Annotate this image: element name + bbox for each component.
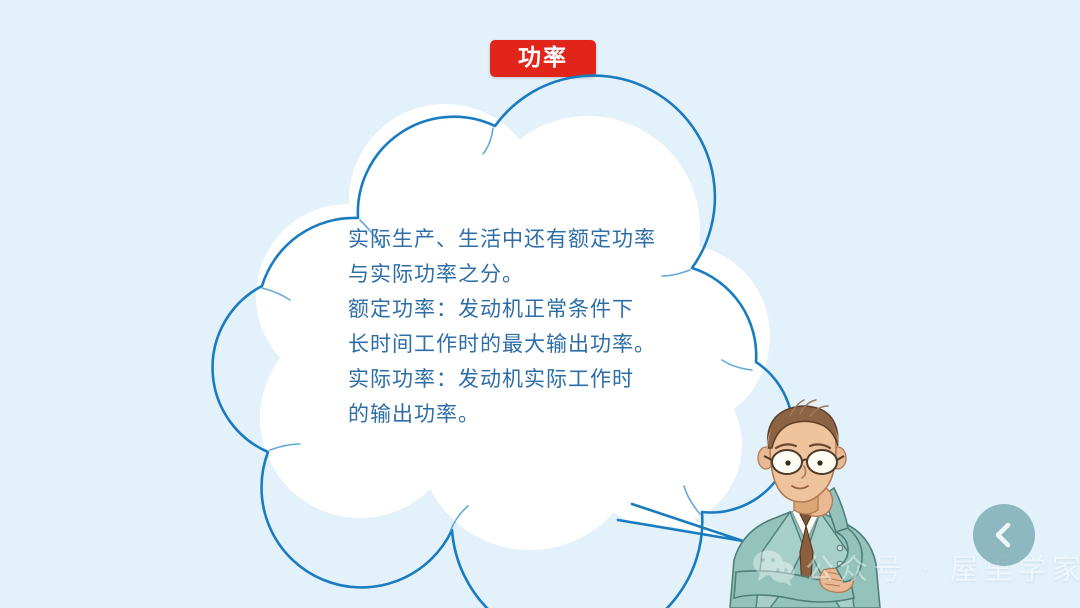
slide-canvas: 功率 — [0, 0, 1080, 608]
bubble-line-2: 与实际功率之分。 — [348, 257, 698, 292]
bubble-line-4: 长时间工作时的最大输出功率。 — [348, 327, 698, 362]
bubble-line-1: 实际生产、生活中还有额定功率 — [348, 222, 698, 257]
thinking-man-illustration — [712, 392, 894, 608]
speech-bubble-text: 实际生产、生活中还有额定功率 与实际功率之分。 额定功率：发动机正常条件下 长时… — [348, 222, 698, 432]
speech-bubble: 实际生产、生活中还有额定功率 与实际功率之分。 额定功率：发动机正常条件下 长时… — [240, 100, 780, 540]
bubble-line-5: 实际功率：发动机实际工作时 — [348, 362, 698, 397]
chevron-left-icon — [989, 520, 1019, 550]
bubble-line-3: 额定功率：发动机正常条件下 — [348, 292, 698, 327]
page-title-badge: 功率 — [490, 40, 596, 77]
page-title: 功率 — [518, 47, 568, 70]
back-button[interactable] — [973, 504, 1035, 566]
bubble-line-6: 的输出功率。 — [348, 397, 698, 432]
